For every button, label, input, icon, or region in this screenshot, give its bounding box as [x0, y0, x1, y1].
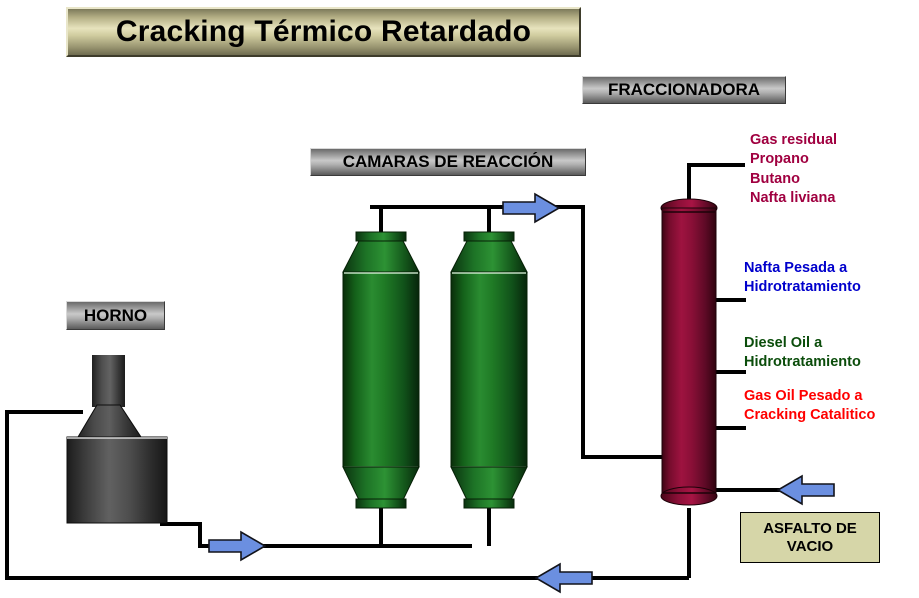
arrow-bottoms-recycle [535, 562, 593, 594]
label-asfalto-de-vacio: ASFALTO DE VACIO [740, 512, 880, 563]
page-title: Cracking Térmico Retardado [66, 7, 581, 57]
pipe-bottom-side-inlet [716, 488, 782, 492]
label-horno: HORNO [66, 301, 165, 330]
label-asfalto-line-1: ASFALTO DE [763, 520, 857, 538]
product-diesel-line-1: Diesel Oil a [744, 334, 861, 353]
product-label-heavy-naphtha: Nafta Pesada a Hidrotratamiento [744, 259, 861, 298]
pipe-column-bottom-drop [687, 508, 691, 578]
product-heavy-gas-oil-line-1: Gas Oil Pesado a [744, 387, 875, 406]
label-fraccionadora-text: FRACCIONADORA [608, 80, 760, 100]
product-overhead-line-3: Butano [750, 170, 837, 189]
pipe-chamber-left-bottom-leg [379, 508, 383, 546]
product-label-heavy-gas-oil: Gas Oil Pesado a Cracking Catalitico [744, 387, 875, 426]
product-overhead-line-4: Nafta liviana [750, 189, 837, 208]
fractionator-column [659, 194, 719, 514]
arrow-furnace-to-chambers [208, 530, 266, 562]
arrow-asphalt-recycle-in [777, 474, 835, 506]
horno-furnace [58, 355, 176, 525]
pipe-draw-heavy-naphtha [716, 298, 746, 302]
pipe-draw-diesel [716, 370, 746, 374]
product-label-diesel: Diesel Oil a Hidrotratamiento [744, 334, 861, 373]
product-overhead-line-1: Gas residual [750, 131, 837, 150]
pipe-draw-heavy-gas-oil [716, 426, 746, 430]
reaction-chamber-left [337, 230, 425, 512]
product-diesel-line-2: Hidrotratamiento [744, 353, 861, 372]
product-label-overhead: Gas residual Propano Butano Nafta livian… [750, 131, 837, 208]
product-overhead-line-2: Propano [750, 150, 837, 169]
product-heavy-gas-oil-line-2: Cracking Catalitico [744, 406, 875, 425]
pipe-overhead-downcomer [581, 205, 585, 458]
product-heavy-naphtha-line-2: Hidrotratamiento [744, 278, 861, 297]
label-horno-text: HORNO [84, 306, 147, 326]
process-diagram-canvas: Cracking Térmico Retardado FRACCIONADORA… [0, 0, 919, 598]
label-camaras-text: CAMARAS DE REACCIÓN [343, 152, 554, 172]
label-fraccionadora: FRACCIONADORA [582, 76, 786, 104]
pipe-chamber-right-bottom-leg [487, 508, 491, 546]
pipe-fractionator-top-to-label [687, 163, 745, 167]
pipe-furnace-outlet-drop [198, 522, 202, 546]
product-heavy-naphtha-line-1: Nafta Pesada a [744, 259, 861, 278]
label-camaras-de-reaccion: CAMARAS DE REACCIÓN [310, 148, 586, 176]
reaction-chamber-right [445, 230, 533, 512]
pipe-feed-vertical-left [5, 410, 9, 580]
label-asfalto-line-2: VACIO [787, 538, 833, 556]
arrow-chambers-to-fractionator [502, 192, 560, 224]
page-title-text: Cracking Térmico Retardado [116, 15, 531, 49]
